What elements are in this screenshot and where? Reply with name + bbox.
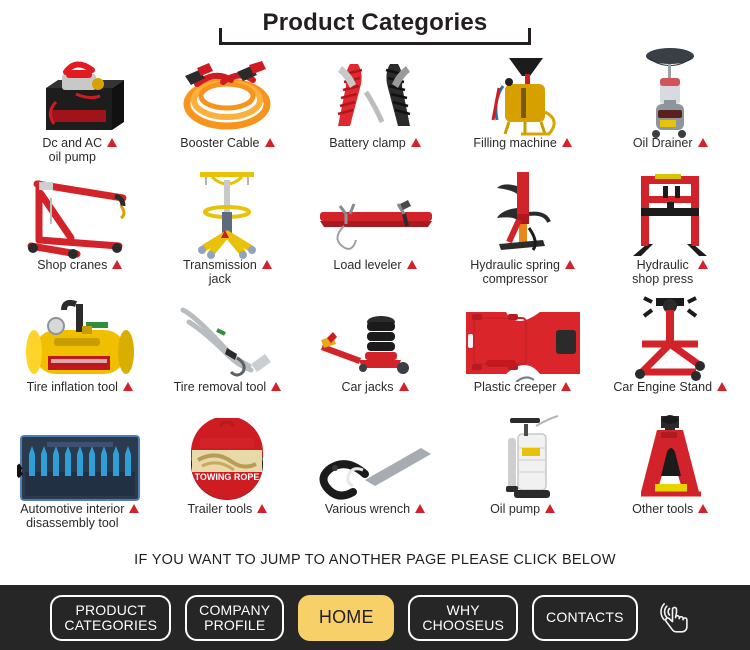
product-caption: Plastic creeper bbox=[450, 380, 596, 394]
product-card[interactable]: Booster Cable bbox=[154, 50, 302, 172]
product-caption: Dc and ACoil pump bbox=[7, 136, 153, 164]
product-label: Hydraulicshop press bbox=[632, 258, 693, 286]
product-card[interactable]: Load leveler bbox=[301, 172, 449, 294]
product-caption: Filling machine bbox=[450, 136, 596, 150]
product-caption: Various wrench bbox=[302, 502, 448, 516]
product-card[interactable]: Hydraulicshop press bbox=[596, 172, 744, 294]
product-caption: Tire removal tool bbox=[154, 380, 300, 394]
red-triangle-marker-icon bbox=[107, 138, 117, 147]
product-label: Trailer tools bbox=[187, 502, 252, 516]
product-caption: Oil pump bbox=[450, 502, 596, 516]
product-card[interactable]: Hydraulic springcompressor bbox=[449, 172, 597, 294]
product-label: Dc and ACoil pump bbox=[42, 136, 102, 164]
product-label: Transmissionjack bbox=[183, 258, 257, 286]
product-card[interactable]: Various wrench bbox=[301, 416, 449, 538]
product-caption: Oil Drainer bbox=[597, 136, 743, 150]
footer-nav-button[interactable]: HOME bbox=[298, 595, 394, 641]
red-triangle-marker-icon bbox=[562, 138, 572, 147]
product-caption: Tire inflation tool bbox=[7, 380, 153, 394]
red-triangle-marker-icon bbox=[698, 138, 708, 147]
page-header: Product Categories bbox=[0, 0, 750, 50]
other-tools-icon bbox=[605, 416, 735, 504]
product-grid: Dc and ACoil pump Booster Cable Battery … bbox=[0, 50, 750, 538]
product-card[interactable]: Oil pump bbox=[449, 416, 597, 538]
red-triangle-marker-icon bbox=[265, 138, 275, 147]
product-label: Filling machine bbox=[473, 136, 556, 150]
product-card[interactable]: Automotive interiordisassembly tool bbox=[6, 416, 154, 538]
footer-nav-button[interactable]: CONTACTS bbox=[532, 595, 638, 641]
footer-nav-bar: PRODUCTCATEGORIESCOMPANYPROFILEHOMEWHYCH… bbox=[0, 585, 750, 650]
oil-pump-icon bbox=[458, 416, 588, 504]
svg-text:TOWING ROPE: TOWING ROPE bbox=[195, 472, 260, 482]
product-caption: Hydraulic springcompressor bbox=[450, 258, 596, 286]
tire-inflation-tool-icon bbox=[15, 294, 145, 382]
page-title: Product Categories bbox=[253, 9, 498, 36]
jump-instruction: IF YOU WANT TO JUMP TO ANOTHER PAGE PLEA… bbox=[0, 552, 750, 568]
red-triangle-marker-icon bbox=[411, 138, 421, 147]
red-triangle-marker-icon bbox=[698, 504, 708, 513]
red-triangle-marker-icon bbox=[257, 504, 267, 513]
product-card[interactable]: Transmissionjack bbox=[154, 172, 302, 294]
product-card[interactable]: Battery clamp bbox=[301, 50, 449, 172]
red-triangle-marker-icon bbox=[415, 504, 425, 513]
oil-drainer-icon bbox=[605, 50, 735, 138]
product-label: Other tools bbox=[632, 502, 693, 516]
product-card[interactable]: Other tools bbox=[596, 416, 744, 538]
product-label: Battery clamp bbox=[329, 136, 405, 150]
automotive-interior-disassembly-tool-icon bbox=[15, 416, 145, 504]
red-triangle-marker-icon bbox=[112, 260, 122, 269]
product-card[interactable]: TOWING ROPE Trailer tools bbox=[154, 416, 302, 538]
footer-nav-button[interactable]: PRODUCTCATEGORIES bbox=[50, 595, 171, 641]
click-hand-icon[interactable] bbox=[654, 595, 700, 641]
red-triangle-marker-icon bbox=[561, 382, 571, 391]
red-triangle-marker-icon bbox=[698, 260, 708, 269]
product-card[interactable]: Tire inflation tool bbox=[6, 294, 154, 416]
product-caption: Booster Cable bbox=[154, 136, 300, 150]
product-caption: Transmissionjack bbox=[154, 258, 300, 286]
red-triangle-marker-icon bbox=[271, 382, 281, 391]
battery-clamp-icon bbox=[310, 50, 440, 138]
product-card[interactable]: Car Engine Stand bbox=[596, 294, 744, 416]
product-label: Oil pump bbox=[490, 502, 540, 516]
footer-nav-button[interactable]: COMPANYPROFILE bbox=[185, 595, 284, 641]
product-card[interactable]: Tire removal tool bbox=[154, 294, 302, 416]
hydraulic-spring-compressor-icon bbox=[458, 172, 588, 260]
product-card[interactable]: Filling machine bbox=[449, 50, 597, 172]
transmission-jack-icon bbox=[162, 172, 292, 260]
product-label: Various wrench bbox=[325, 502, 410, 516]
car-jack-icon bbox=[310, 294, 440, 382]
product-caption: Other tools bbox=[597, 502, 743, 516]
product-card[interactable]: Plastic creeper bbox=[449, 294, 597, 416]
hydraulic-shop-press-icon bbox=[605, 172, 735, 260]
product-caption: Trailer tools bbox=[154, 502, 300, 516]
tire-removal-tool-icon bbox=[162, 294, 292, 382]
product-card[interactable]: Car jacks bbox=[301, 294, 449, 416]
trailer-tools-icon: TOWING ROPE bbox=[162, 416, 292, 504]
red-triangle-marker-icon bbox=[565, 260, 575, 269]
red-triangle-marker-icon bbox=[262, 260, 272, 269]
product-label: Oil Drainer bbox=[633, 136, 693, 150]
car-engine-stand-icon bbox=[605, 294, 735, 382]
product-label: Car Engine Stand bbox=[613, 380, 712, 394]
product-label: Plastic creeper bbox=[474, 380, 557, 394]
filling-machine-icon bbox=[458, 50, 588, 138]
footer-nav-button[interactable]: WHYCHOOSEUS bbox=[408, 595, 518, 641]
product-label: Shop cranes bbox=[37, 258, 107, 272]
booster-cable-icon bbox=[162, 50, 292, 138]
product-card[interactable]: Dc and ACoil pump bbox=[6, 50, 154, 172]
product-caption: Hydraulicshop press bbox=[597, 258, 743, 286]
dc-ac-oil-pump-icon bbox=[15, 50, 145, 138]
plastic-creeper-icon bbox=[458, 294, 588, 382]
product-card[interactable]: Oil Drainer bbox=[596, 50, 744, 172]
product-card[interactable]: Shop cranes bbox=[6, 172, 154, 294]
red-triangle-marker-icon bbox=[129, 504, 139, 513]
product-caption: Shop cranes bbox=[7, 258, 153, 272]
red-triangle-marker-icon bbox=[717, 382, 727, 391]
various-wrench-icon bbox=[310, 416, 440, 504]
product-label: Booster Cable bbox=[180, 136, 259, 150]
red-triangle-marker-icon bbox=[123, 382, 133, 391]
product-label: Automotive interiordisassembly tool bbox=[20, 502, 124, 530]
product-caption: Battery clamp bbox=[302, 136, 448, 150]
product-caption: Car jacks bbox=[302, 380, 448, 394]
red-triangle-marker-icon bbox=[399, 382, 409, 391]
load-leveler-icon bbox=[310, 172, 440, 260]
product-label: Tire inflation tool bbox=[27, 380, 118, 394]
product-label: Load leveler bbox=[333, 258, 401, 272]
shop-crane-icon bbox=[15, 172, 145, 260]
product-caption: Load leveler bbox=[302, 258, 448, 272]
title-frame: Product Categories bbox=[219, 5, 532, 45]
product-label: Car jacks bbox=[341, 380, 393, 394]
product-caption: Car Engine Stand bbox=[597, 380, 743, 394]
product-label: Tire removal tool bbox=[174, 380, 267, 394]
product-label: Hydraulic springcompressor bbox=[470, 258, 560, 286]
red-triangle-marker-icon bbox=[545, 504, 555, 513]
product-caption: Automotive interiordisassembly tool bbox=[7, 502, 153, 530]
red-triangle-marker-icon bbox=[407, 260, 417, 269]
